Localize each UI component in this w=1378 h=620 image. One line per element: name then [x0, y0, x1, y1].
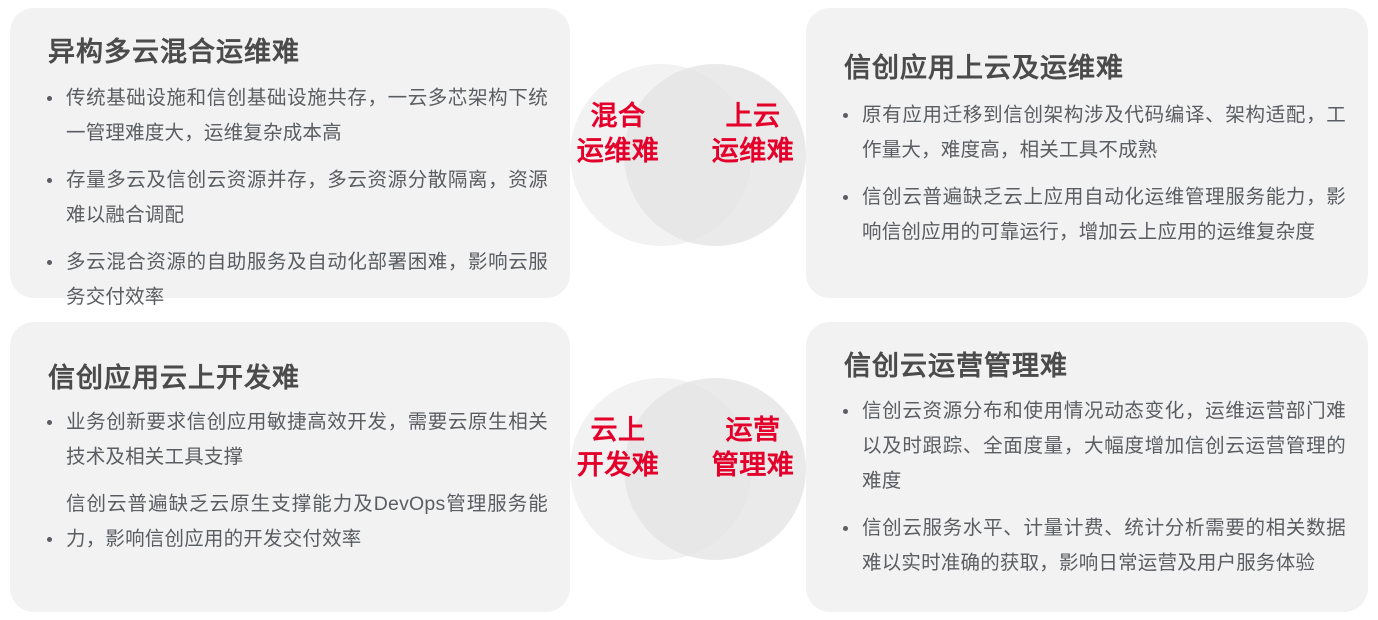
- venn-label-right-line2: 运维难: [698, 134, 808, 169]
- slide-canvas: 异构多云混合运维难 传统基础设施和信创基础设施共存，一云多芯架构下统一管理难度大…: [0, 0, 1378, 620]
- venn-label-left-line2: 运维难: [563, 134, 673, 169]
- list-item: 原有应用迁移到信创架构涉及代码编译、架构适配，工作量大，难度高，相关工具不成熟: [840, 98, 1346, 168]
- bullet-dot-icon: [843, 113, 848, 118]
- bullet-dot-icon: [843, 409, 848, 414]
- list-item-text: 业务创新要求信创应用敏捷高效开发，需要云原生相关技术及相关工具支撑: [66, 411, 548, 468]
- list-item-text: 存量多云及信创云资源并存，多云资源分散隔离，资源难以融合调配: [66, 169, 548, 226]
- list-item: 信创云普遍缺乏云上应用自动化运维管理服务能力，影响信创应用的可靠运行，增加云上应…: [840, 180, 1346, 250]
- venn-label-left-line2: 开发难: [563, 448, 673, 483]
- list-item: 业务创新要求信创应用敏捷高效开发，需要云原生相关技术及相关工具支撑: [44, 405, 548, 475]
- venn-label-left: 云上 开发难: [563, 413, 673, 483]
- venn-diagram-top: 混合 运维难 上云 运维难: [570, 64, 806, 246]
- venn-label-left-line1: 云上: [563, 413, 673, 448]
- bullet-list: 传统基础设施和信创基础设施共存，一云多芯架构下统一管理难度大，运维复杂成本高 存…: [44, 81, 548, 327]
- list-item-text: 原有应用迁移到信创架构涉及代码编译、架构适配，工作量大，难度高，相关工具不成熟: [862, 104, 1346, 161]
- venn-label-left-line1: 混合: [563, 99, 673, 134]
- venn-diagram-bottom: 云上 开发难 运营 管理难: [570, 378, 806, 560]
- bullet-dot-icon: [47, 260, 52, 265]
- card-title: 信创云运营管理难: [844, 344, 1068, 383]
- venn-label-left: 混合 运维难: [563, 99, 673, 169]
- list-item-text: 传统基础设施和信创基础设施共存，一云多芯架构下统一管理难度大，运维复杂成本高: [66, 87, 548, 144]
- card-title: 信创应用上云及运维难: [844, 46, 1124, 85]
- bullet-dot-icon: [47, 178, 52, 183]
- bullet-dot-icon: [47, 420, 52, 425]
- venn-label-right-line2: 管理难: [698, 448, 808, 483]
- card-title: 信创应用云上开发难: [48, 356, 300, 395]
- list-item: 多云混合资源的自助服务及自动化部署困难，影响云服务交付效率: [44, 245, 548, 315]
- list-item: 传统基础设施和信创基础设施共存，一云多芯架构下统一管理难度大，运维复杂成本高: [44, 81, 548, 151]
- bullet-dot-icon: [843, 526, 848, 531]
- list-item-text: 信创云资源分布和使用情况动态变化，运维运营部门难以及时跟踪、全面度量，大幅度增加…: [862, 400, 1346, 492]
- list-item: 信创云资源分布和使用情况动态变化，运维运营部门难以及时跟踪、全面度量，大幅度增加…: [840, 394, 1346, 499]
- venn-label-right: 运营 管理难: [698, 413, 808, 483]
- list-item-text: 多云混合资源的自助服务及自动化部署困难，影响云服务交付效率: [66, 251, 548, 308]
- list-item: 信创云服务水平、计量计费、统计分析需要的相关数据难以实时准确的获取，影响日常运营…: [840, 511, 1346, 581]
- bullet-list: 信创云资源分布和使用情况动态变化，运维运营部门难以及时跟踪、全面度量，大幅度增加…: [840, 394, 1346, 593]
- card-top-left: 异构多云混合运维难 传统基础设施和信创基础设施共存，一云多芯架构下统一管理难度大…: [10, 8, 570, 298]
- list-item-text: 信创云服务水平、计量计费、统计分析需要的相关数据难以实时准确的获取，影响日常运营…: [862, 517, 1346, 574]
- bullet-dot-icon: [843, 195, 848, 200]
- bullet-list: 原有应用迁移到信创架构涉及代码编译、架构适配，工作量大，难度高，相关工具不成熟 …: [840, 98, 1346, 262]
- bullet-dot-icon: [47, 537, 52, 542]
- card-bottom-left: 信创应用云上开发难 业务创新要求信创应用敏捷高效开发，需要云原生相关技术及相关工…: [10, 322, 570, 612]
- venn-label-right-line1: 运营: [698, 413, 808, 448]
- card-top-right: 信创应用上云及运维难 原有应用迁移到信创架构涉及代码编译、架构适配，工作量大，难…: [806, 8, 1368, 298]
- list-item: 存量多云及信创云资源并存，多云资源分散隔离，资源难以融合调配: [44, 163, 548, 233]
- venn-label-right-line1: 上云: [698, 99, 808, 134]
- bullet-dot-icon: [47, 96, 52, 101]
- venn-label-right: 上云 运维难: [698, 99, 808, 169]
- bullet-list: 业务创新要求信创应用敏捷高效开发，需要云原生相关技术及相关工具支撑 信创云普遍缺…: [44, 405, 548, 569]
- list-item-text: 信创云普遍缺乏云原生支撑能力及DevOps管理服务能力，影响信创应用的开发交付效…: [66, 493, 548, 550]
- list-item: 信创云普遍缺乏云原生支撑能力及DevOps管理服务能力，影响信创应用的开发交付效…: [44, 487, 548, 557]
- list-item-text: 信创云普遍缺乏云上应用自动化运维管理服务能力，影响信创应用的可靠运行，增加云上应…: [862, 186, 1346, 243]
- card-bottom-right: 信创云运营管理难 信创云资源分布和使用情况动态变化，运维运营部门难以及时跟踪、全…: [806, 322, 1368, 612]
- card-title: 异构多云混合运维难: [48, 30, 300, 69]
